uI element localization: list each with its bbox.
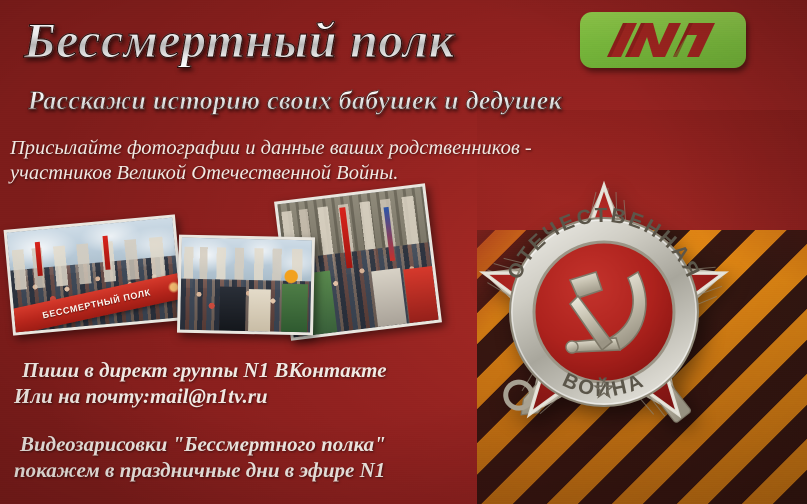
contact-line-vk: Пиши в директ группы N1 ВКонтакте — [14, 358, 387, 384]
broadcast-line-2: покажем в праздничные дни в эфире N1 — [14, 458, 386, 484]
title-block: Бессмертный полк — [24, 14, 544, 67]
photo-figure-dark-coat — [219, 286, 246, 331]
photo-figure-light-coat — [248, 289, 271, 332]
contact-line-email: Или на почту:mail@n1tv.ru — [14, 384, 387, 410]
poster-canvas: ОТЕЧЕСТВЕННАЯ ВОЙНА — [0, 0, 807, 504]
photo-marchers-with-portraits — [177, 235, 315, 336]
contact-paragraph: Пиши в директ группы N1 ВКонтакте Или на… — [14, 358, 387, 409]
photo-immortal-regiment-banner: БЕССМЕРТНЫЙ ПОЛК — [4, 214, 185, 335]
photo-figure-green-coat — [281, 284, 308, 332]
broadcast-paragraph: Видеозарисовки "Бессмертного полка" пока… — [14, 432, 386, 483]
n1-logo-mark — [603, 19, 723, 61]
n1-logo[interactable] — [580, 12, 746, 68]
page-subtitle: Расскажи историю своих бабушек и дедушек — [28, 86, 562, 116]
order-of-the-patriotic-war-medal: ОТЕЧЕСТВЕННАЯ ВОЙНА — [436, 144, 772, 480]
photo-figure-red-jacket — [403, 266, 439, 323]
page-title: Бессмертный полк — [24, 14, 544, 67]
broadcast-line-1: Видеозарисовки "Бессмертного полка" — [14, 432, 386, 458]
